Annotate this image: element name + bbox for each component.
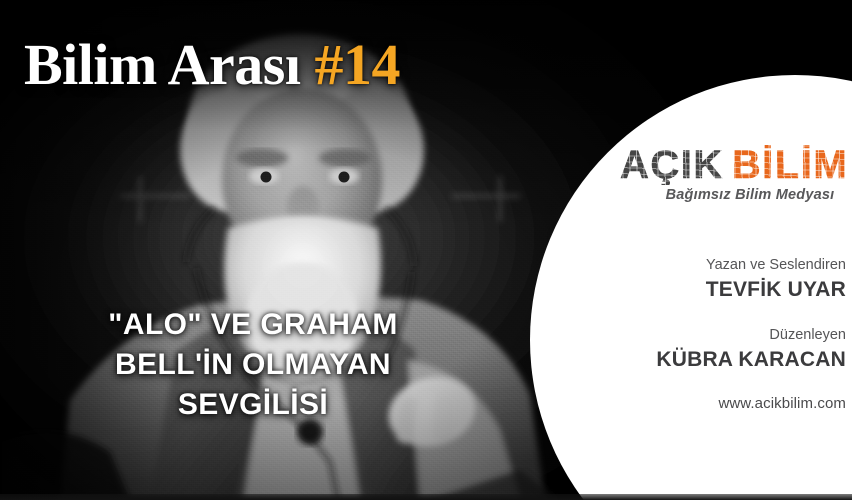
credit-name: KÜBRA KARACAN — [600, 347, 846, 373]
episode-title-line-1: "ALO" VE GRAHAM — [20, 305, 486, 345]
logo-word-bilim: BİLİM — [732, 145, 848, 185]
episode-title: "ALO" VE GRAHAM BELL'İN OLMAYAN SEVGİLİS… — [20, 305, 486, 426]
series-title-text: Bilim Arası — [24, 32, 300, 97]
episode-title-line-2: BELL'İN OLMAYAN — [20, 345, 486, 385]
credit-role: Yazan ve Seslendiren — [600, 255, 846, 277]
logo-wordmark: AÇIKBİLİM — [620, 145, 846, 185]
episode-title-line-3: SEVGİLİSİ — [20, 385, 486, 425]
podcast-cover: Bilim Arası #14 "ALO" VE GRAHAM BELL'İN … — [0, 0, 852, 500]
credit-role: Düzenleyen — [600, 325, 846, 347]
credit-item: Yazan ve Seslendiren TEVFİK UYAR — [600, 255, 846, 303]
panel-content: AÇIKBİLİM Bağımsız Bilim Medyası Yazan v… — [600, 145, 846, 412]
episode-number-badge: #14 — [314, 32, 400, 97]
acik-bilim-logo[interactable]: AÇIKBİLİM Bağımsız Bilim Medyası — [620, 145, 846, 203]
credits-list: Yazan ve Seslendiren TEVFİK UYAR Düzenle… — [600, 255, 846, 412]
logo-word-acik: AÇIK — [620, 145, 724, 185]
series-headline: Bilim Arası #14 — [24, 36, 400, 94]
website-url[interactable]: www.acikbilim.com — [600, 395, 846, 412]
credit-name: TEVFİK UYAR — [600, 277, 846, 303]
bottom-strip — [0, 494, 852, 500]
logo-tagline: Bağımsız Bilim Medyası — [620, 187, 846, 203]
credit-item: Düzenleyen KÜBRA KARACAN — [600, 325, 846, 373]
